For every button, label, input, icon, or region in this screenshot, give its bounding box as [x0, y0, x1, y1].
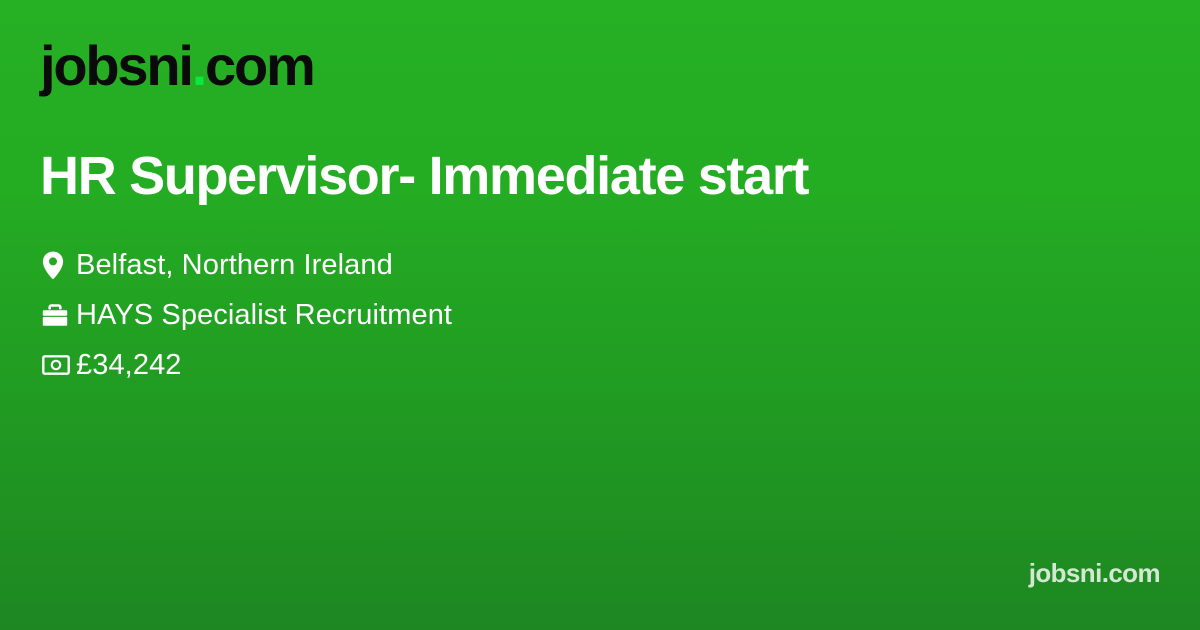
briefcase-icon	[42, 300, 76, 330]
job-meta-company: HAYS Specialist Recruitment	[42, 295, 452, 335]
logo-tld: com	[205, 34, 314, 97]
job-meta-location: Belfast, Northern Ireland	[42, 245, 452, 285]
job-salary-text: £34,242	[76, 351, 182, 380]
footer-watermark: jobsni.com	[1029, 560, 1160, 586]
logo-text: jobsni	[40, 34, 192, 97]
job-location-text: Belfast, Northern Ireland	[76, 251, 393, 280]
job-company-text: HAYS Specialist Recruitment	[76, 301, 452, 330]
location-pin-icon	[42, 250, 76, 280]
logo-dot: .	[192, 34, 205, 97]
job-meta-list: Belfast, Northern Ireland HAYS Specialis…	[42, 245, 452, 385]
site-logo[interactable]: jobsni.com	[40, 38, 314, 94]
job-title: HR Supervisor- Immediate start	[40, 146, 1150, 206]
banknote-icon	[42, 350, 76, 380]
job-meta-salary: £34,242	[42, 345, 452, 385]
